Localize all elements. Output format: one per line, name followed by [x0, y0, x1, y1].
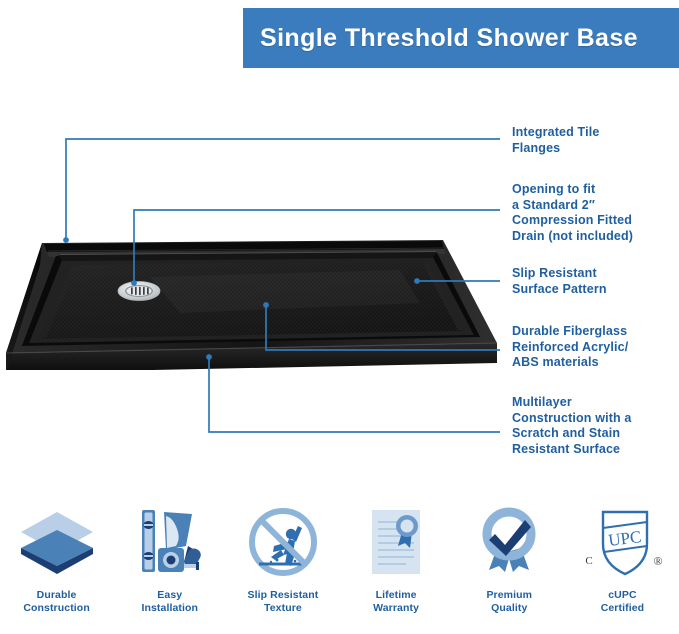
feature-cupc-certified: UPC C ® cUPC Certified — [566, 503, 679, 614]
upc-badge-suffix: ® — [654, 554, 663, 568]
feature-label: Durable Construction — [23, 589, 90, 614]
feature-label: cUPC Certified — [601, 589, 645, 614]
callout-slip-resistant-surface: Slip Resistant Surface Pattern — [512, 266, 607, 297]
feature-easy-installation: Easy Installation — [113, 503, 226, 614]
feature-badges-row: Durable Construction — [0, 503, 679, 634]
callout-drain-opening: Opening to fit a Standard 2″ Compression… — [512, 182, 633, 244]
stacked-layers-icon — [14, 503, 100, 581]
feature-label: Slip Resistant Texture — [248, 589, 319, 614]
callout-durable-materials: Durable Fiberglass Reinforced Acrylic/ A… — [512, 324, 628, 371]
infographic-canvas: Single Threshold Shower Base — [0, 0, 679, 634]
feature-durable-construction: Durable Construction — [0, 503, 113, 614]
trowel-level-icon — [127, 503, 213, 581]
no-slip-icon — [240, 503, 326, 581]
callout-multilayer-construction: Multilayer Construction with a Scratch a… — [512, 395, 632, 457]
upc-shield-icon: UPC C ® — [579, 503, 665, 581]
upc-badge-prefix: C — [586, 555, 593, 567]
feature-label: Premium Quality — [486, 589, 532, 614]
feature-label: Easy Installation — [141, 589, 198, 614]
feature-slip-resistant-texture: Slip Resistant Texture — [226, 503, 339, 614]
certificate-icon — [353, 503, 439, 581]
feature-label: Lifetime Warranty — [373, 589, 419, 614]
check-rosette-icon — [466, 503, 552, 581]
feature-premium-quality: Premium Quality — [453, 503, 566, 614]
feature-lifetime-warranty: Lifetime Warranty — [340, 503, 453, 614]
callout-integrated-tile-flanges: Integrated Tile Flanges — [512, 125, 599, 156]
upc-badge-text: UPC — [608, 527, 643, 550]
